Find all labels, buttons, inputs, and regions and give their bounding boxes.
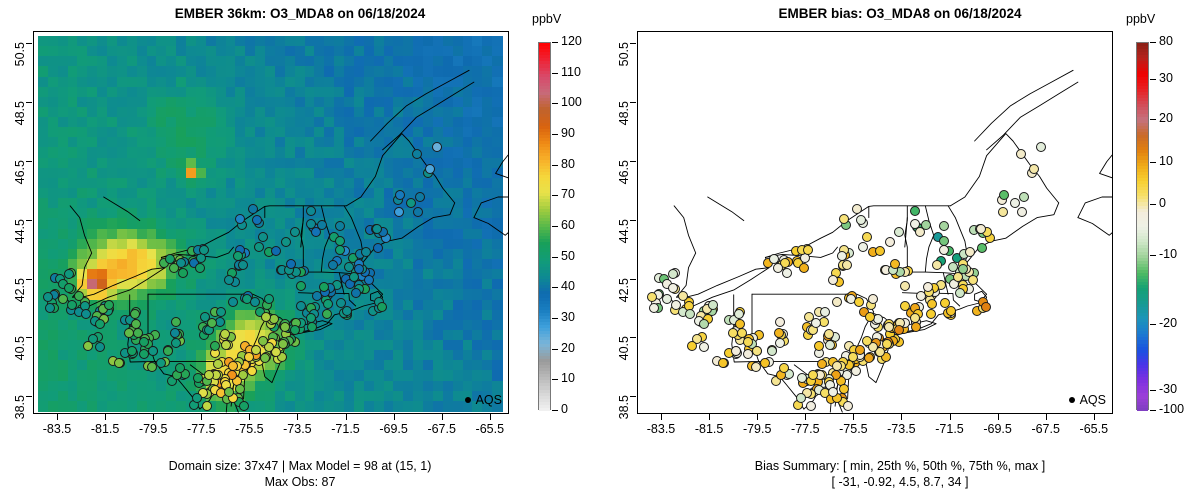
colorbar-tick bbox=[552, 42, 558, 43]
x-tick bbox=[661, 414, 662, 420]
aqs-station-marker bbox=[832, 297, 842, 307]
aqs-station-marker bbox=[361, 247, 371, 257]
aqs-station-marker bbox=[767, 346, 777, 356]
aqs-station-marker bbox=[74, 291, 84, 301]
aqs-station-marker bbox=[884, 322, 894, 332]
aqs-station-marker bbox=[58, 294, 68, 304]
aqs-station-marker bbox=[202, 401, 212, 411]
aqs-station-marker bbox=[923, 282, 933, 292]
aqs-station-marker bbox=[774, 328, 784, 338]
aqs-station-marker bbox=[290, 325, 300, 335]
y-tick-label: 46.5 bbox=[13, 160, 27, 220]
y-tick-label: 50.5 bbox=[13, 42, 27, 102]
map-boundary-path bbox=[1078, 168, 1112, 236]
x-tick bbox=[757, 414, 758, 420]
aqs-station-marker bbox=[286, 259, 296, 269]
aqs-station-marker bbox=[204, 370, 214, 380]
aqs-station-marker bbox=[782, 268, 792, 278]
colorbar-tick-label: 100 bbox=[561, 95, 582, 109]
x-tick bbox=[442, 414, 443, 420]
aqs-station-marker bbox=[372, 224, 382, 234]
aqs-station-marker bbox=[412, 149, 422, 159]
aqs-station-marker bbox=[306, 206, 316, 216]
colorbar-tick-label: -20 bbox=[1159, 316, 1177, 330]
aqs-station-marker bbox=[1029, 164, 1039, 174]
y-tick-label: 48.5 bbox=[617, 101, 631, 161]
aqs-station-marker bbox=[171, 317, 181, 327]
x-tick bbox=[490, 414, 491, 420]
aqs-station-marker bbox=[133, 328, 143, 338]
colorbar-tick bbox=[552, 134, 558, 135]
y-tick-label: 48.5 bbox=[13, 101, 27, 161]
colorbar-gradient bbox=[538, 42, 551, 410]
x-tick bbox=[346, 414, 347, 420]
aqs-station-marker bbox=[824, 329, 834, 339]
colorbar-tick bbox=[552, 318, 558, 319]
aqs-station-marker bbox=[939, 221, 949, 231]
x-tick bbox=[853, 414, 854, 420]
colorbar-tick-label: 10 bbox=[1159, 154, 1173, 168]
aqs-marker-icon bbox=[1069, 397, 1075, 403]
x-tick bbox=[1094, 414, 1095, 420]
model-plot-area: AQS bbox=[33, 31, 509, 414]
map-boundary-path bbox=[674, 206, 696, 297]
colorbar-tick-label: 0 bbox=[1159, 196, 1166, 210]
colorbar-tick bbox=[552, 379, 558, 380]
y-tick-label: 38.5 bbox=[13, 395, 27, 455]
aqs-station-marker bbox=[808, 370, 818, 380]
colorbar-gradient bbox=[1136, 42, 1149, 410]
colorbar-tick bbox=[1150, 255, 1156, 256]
model-legend: AQS bbox=[465, 393, 502, 407]
y-tick-label: 40.5 bbox=[617, 336, 631, 396]
aqs-station-marker bbox=[1010, 198, 1020, 208]
colorbar-tick bbox=[1150, 410, 1156, 411]
colorbar-tick bbox=[1150, 204, 1156, 205]
aqs-station-marker bbox=[425, 164, 435, 174]
aqs-station-marker bbox=[852, 204, 862, 214]
aqs-station-marker bbox=[221, 340, 231, 350]
map-boundary-path bbox=[708, 197, 744, 221]
bias-map-clip bbox=[638, 32, 1112, 413]
colorbar-tick-label: 60 bbox=[561, 218, 575, 232]
colorbar-segment bbox=[539, 408, 550, 412]
aqs-station-marker bbox=[649, 303, 659, 313]
aqs-station-marker bbox=[258, 232, 268, 242]
x-tick-label: -65.5 bbox=[1059, 422, 1129, 436]
aqs-station-marker bbox=[220, 329, 230, 339]
aqs-station-marker bbox=[215, 317, 225, 327]
y-tick-label: 44.5 bbox=[617, 219, 631, 279]
model-caption-line1: Domain size: 37x47 | Max Model = 98 at (… bbox=[0, 458, 600, 474]
aqs-station-marker bbox=[336, 298, 346, 308]
colorbar-tick bbox=[1150, 79, 1156, 80]
x-tick bbox=[950, 414, 951, 420]
aqs-station-marker bbox=[890, 259, 900, 269]
aqs-station-marker bbox=[45, 303, 55, 313]
aqs-station-marker bbox=[95, 342, 105, 352]
aqs-station-marker bbox=[699, 342, 709, 352]
aqs-station-marker bbox=[178, 268, 188, 278]
model-map-clip bbox=[34, 32, 508, 413]
colorbar-tick bbox=[1150, 324, 1156, 325]
colorbar-tick bbox=[1150, 119, 1156, 120]
aqs-station-marker bbox=[323, 299, 333, 309]
aqs-station-marker bbox=[351, 288, 361, 298]
aqs-station-marker bbox=[1017, 207, 1027, 217]
x-tick bbox=[998, 414, 999, 420]
aqs-station-marker bbox=[734, 309, 744, 319]
aqs-station-marker bbox=[927, 299, 937, 309]
colorbar-tick-label: 80 bbox=[561, 157, 575, 171]
aqs-station-marker bbox=[751, 362, 761, 372]
y-tick-label: 38.5 bbox=[617, 395, 631, 455]
aqs-station-marker bbox=[406, 198, 416, 208]
colorbar-tick bbox=[552, 195, 558, 196]
colorbar-tick-label: 70 bbox=[561, 187, 575, 201]
colorbar-tick-label: 80 bbox=[1159, 34, 1173, 48]
aqs-station-marker bbox=[210, 341, 220, 351]
aqs-station-marker bbox=[373, 243, 383, 253]
aqs-station-marker bbox=[803, 245, 813, 255]
aqs-station-marker bbox=[413, 207, 423, 217]
map-boundary-path bbox=[1078, 150, 1112, 218]
aqs-station-marker bbox=[862, 232, 872, 242]
colorbar-tick-label: 0 bbox=[561, 402, 568, 416]
aqs-station-marker bbox=[280, 322, 290, 332]
aqs-station-marker bbox=[854, 297, 864, 307]
aqs-station-marker bbox=[958, 264, 968, 274]
model-colorbar-unit: ppbV bbox=[532, 12, 561, 26]
aqs-station-marker bbox=[195, 263, 205, 273]
model-caption-line2: Max Obs: 87 bbox=[0, 474, 600, 490]
x-tick bbox=[901, 414, 902, 420]
colorbar-tick-label: 20 bbox=[1159, 111, 1173, 125]
colorbar-tick-label: -30 bbox=[1159, 382, 1177, 396]
aqs-station-marker bbox=[718, 358, 728, 368]
aqs-station-marker bbox=[216, 307, 226, 317]
aqs-station-marker bbox=[731, 346, 741, 356]
aqs-station-marker bbox=[248, 204, 258, 214]
x-tick bbox=[201, 414, 202, 420]
aqs-station-marker bbox=[228, 297, 238, 307]
y-tick-label: 42.5 bbox=[13, 278, 27, 338]
colorbar-tick bbox=[1150, 390, 1156, 391]
colorbar-tick bbox=[552, 287, 558, 288]
colorbar-tick-label: -100 bbox=[1159, 402, 1184, 416]
aqs-station-marker bbox=[238, 260, 248, 270]
aqs-station-marker bbox=[940, 298, 950, 308]
aqs-station-marker bbox=[394, 207, 404, 217]
aqs-station-marker bbox=[235, 214, 245, 224]
aqs-station-marker bbox=[839, 214, 849, 224]
aqs-station-marker bbox=[1019, 192, 1029, 202]
colorbar-tick bbox=[1150, 42, 1156, 43]
aqs-station-marker bbox=[775, 317, 785, 327]
aqs-station-marker bbox=[799, 263, 809, 273]
aqs-station-marker bbox=[147, 362, 157, 372]
model-caption: Domain size: 37x47 | Max Model = 98 at (… bbox=[0, 458, 600, 490]
colorbar-tick bbox=[552, 73, 558, 74]
aqs-station-marker bbox=[364, 275, 374, 285]
x-tick bbox=[1046, 414, 1047, 420]
bias-caption: Bias Summary: [ min, 25th %, 50th %, 75t… bbox=[600, 458, 1200, 490]
aqs-station-marker bbox=[976, 224, 986, 234]
aqs-station-marker bbox=[335, 221, 345, 231]
aqs-station-marker bbox=[319, 282, 329, 292]
map-boundary-path bbox=[975, 70, 1074, 141]
bias-legend-label: AQS bbox=[1080, 393, 1106, 407]
bias-colorbar: ppbV -100-30-20-10010203080 bbox=[1136, 0, 1200, 460]
panel-bias-title: EMBER bias: O3_MDA8 on 06/18/2024 bbox=[600, 6, 1200, 21]
colorbar-tick-label: 90 bbox=[561, 126, 575, 140]
colorbar-tick-label: 120 bbox=[561, 34, 582, 48]
aqs-station-marker bbox=[875, 246, 885, 256]
aqs-station-marker bbox=[199, 245, 209, 255]
aqs-station-marker bbox=[865, 312, 875, 322]
aqs-station-marker bbox=[130, 309, 140, 319]
x-tick bbox=[249, 414, 250, 420]
colorbar-tick bbox=[1150, 162, 1156, 163]
y-tick-label: 40.5 bbox=[13, 336, 27, 396]
aqs-station-marker bbox=[678, 291, 688, 301]
aqs-station-marker bbox=[814, 341, 824, 351]
aqs-station-marker bbox=[306, 313, 316, 323]
panel-model: EMBER 36km: O3_MDA8 on 06/18/2024 AQS -8… bbox=[0, 0, 600, 502]
x-tick bbox=[297, 414, 298, 420]
aqs-station-marker bbox=[104, 300, 114, 310]
colorbar-segment bbox=[1137, 408, 1148, 412]
aqs-station-marker bbox=[926, 309, 936, 319]
colorbar-tick bbox=[552, 410, 558, 411]
y-tick-label: 42.5 bbox=[617, 278, 631, 338]
model-colorbar: ppbV 0102030405060708090100110120 bbox=[538, 0, 600, 460]
aqs-station-marker bbox=[708, 300, 718, 310]
aqs-station-marker bbox=[999, 190, 1009, 200]
colorbar-tick-label: 50 bbox=[561, 249, 575, 263]
map-boundary-path bbox=[104, 197, 140, 221]
aqs-station-marker bbox=[81, 309, 91, 319]
y-tick-label: 50.5 bbox=[617, 42, 631, 102]
aqs-station-marker bbox=[127, 346, 137, 356]
aqs-station-marker bbox=[685, 309, 695, 319]
colorbar-tick-label: -10 bbox=[1159, 247, 1177, 261]
aqs-station-marker bbox=[819, 317, 829, 327]
aqs-station-marker bbox=[699, 319, 709, 329]
aqs-station-marker bbox=[910, 313, 920, 323]
colorbar-tick bbox=[552, 165, 558, 166]
aqs-station-marker bbox=[955, 288, 965, 298]
aqs-station-marker bbox=[965, 247, 975, 257]
colorbar-tick-label: 30 bbox=[561, 310, 575, 324]
aqs-station-marker bbox=[662, 294, 672, 304]
aqs-station-marker bbox=[271, 246, 281, 256]
panel-model-title: EMBER 36km: O3_MDA8 on 06/18/2024 bbox=[0, 6, 600, 21]
aqs-marker-icon bbox=[465, 397, 471, 403]
y-tick-label: 46.5 bbox=[617, 160, 631, 220]
panel-bias: EMBER bias: O3_MDA8 on 06/18/2024 AQS -8… bbox=[600, 0, 1200, 502]
aqs-station-marker bbox=[842, 260, 852, 270]
colorbar-tick bbox=[552, 226, 558, 227]
colorbar-tick-label: 110 bbox=[561, 65, 581, 79]
aqs-station-marker bbox=[977, 243, 987, 253]
model-legend-label: AQS bbox=[476, 393, 502, 407]
map-boundary-path bbox=[474, 150, 508, 218]
aqs-station-marker bbox=[213, 359, 223, 369]
aqs-station-marker bbox=[737, 328, 747, 338]
x-tick-label: -65.5 bbox=[455, 422, 525, 436]
aqs-station-marker bbox=[260, 353, 270, 363]
aqs-station-marker bbox=[910, 206, 920, 216]
bias-plot-area: AQS bbox=[637, 31, 1113, 414]
colorbar-tick-label: 10 bbox=[561, 371, 575, 385]
aqs-station-marker bbox=[114, 358, 124, 368]
map-boundary-path bbox=[371, 70, 470, 141]
x-tick bbox=[105, 414, 106, 420]
x-tick bbox=[57, 414, 58, 420]
aqs-station-marker bbox=[250, 297, 260, 307]
aqs-station-marker bbox=[200, 312, 210, 322]
colorbar-tick-label: 20 bbox=[561, 341, 575, 355]
aqs-station-marker bbox=[894, 325, 904, 335]
figure-canvas: EMBER 36km: O3_MDA8 on 06/18/2024 AQS -8… bbox=[0, 0, 1200, 502]
aqs-station-marker bbox=[175, 363, 185, 373]
x-tick bbox=[153, 414, 154, 420]
bias-caption-line1: Bias Summary: [ min, 25th %, 50th %, 75t… bbox=[600, 458, 1200, 474]
aqs-station-marker bbox=[804, 312, 814, 322]
aqs-station-marker bbox=[354, 264, 364, 274]
aqs-station-marker bbox=[322, 309, 332, 319]
map-boundary-path bbox=[474, 168, 508, 236]
aqs-station-marker bbox=[998, 207, 1008, 217]
colorbar-tick bbox=[552, 349, 558, 350]
x-tick bbox=[805, 414, 806, 420]
aqs-station-marker bbox=[261, 312, 271, 322]
bias-legend: AQS bbox=[1069, 393, 1106, 407]
aqs-station-marker bbox=[820, 307, 830, 317]
colorbar-tick bbox=[552, 257, 558, 258]
x-tick bbox=[709, 414, 710, 420]
aqs-station-marker bbox=[843, 401, 853, 411]
aqs-station-marker bbox=[968, 275, 978, 285]
aqs-station-marker bbox=[817, 359, 827, 369]
colorbar-tick-label: 40 bbox=[561, 279, 575, 293]
aqs-station-marker bbox=[1016, 149, 1026, 159]
aqs-station-marker bbox=[825, 340, 835, 350]
aqs-station-marker bbox=[239, 401, 249, 411]
aqs-station-marker bbox=[163, 346, 173, 356]
aqs-station-marker bbox=[779, 363, 789, 373]
colorbar-tick bbox=[552, 103, 558, 104]
aqs-station-marker bbox=[95, 319, 105, 329]
colorbar-tick-label: 30 bbox=[1159, 71, 1173, 85]
y-tick-label: 44.5 bbox=[13, 219, 27, 279]
aqs-station-marker bbox=[395, 190, 405, 200]
x-tick bbox=[394, 414, 395, 420]
aqs-station-marker bbox=[170, 328, 180, 338]
aqs-station-marker bbox=[415, 192, 425, 202]
aqs-station-marker bbox=[806, 401, 816, 411]
bias-caption-line2: [ -31, -0.92, 4.5, 8.7, 34 ] bbox=[600, 474, 1200, 490]
aqs-station-marker bbox=[864, 353, 874, 363]
map-boundary-path bbox=[70, 206, 92, 297]
bias-colorbar-unit: ppbV bbox=[1126, 12, 1155, 26]
